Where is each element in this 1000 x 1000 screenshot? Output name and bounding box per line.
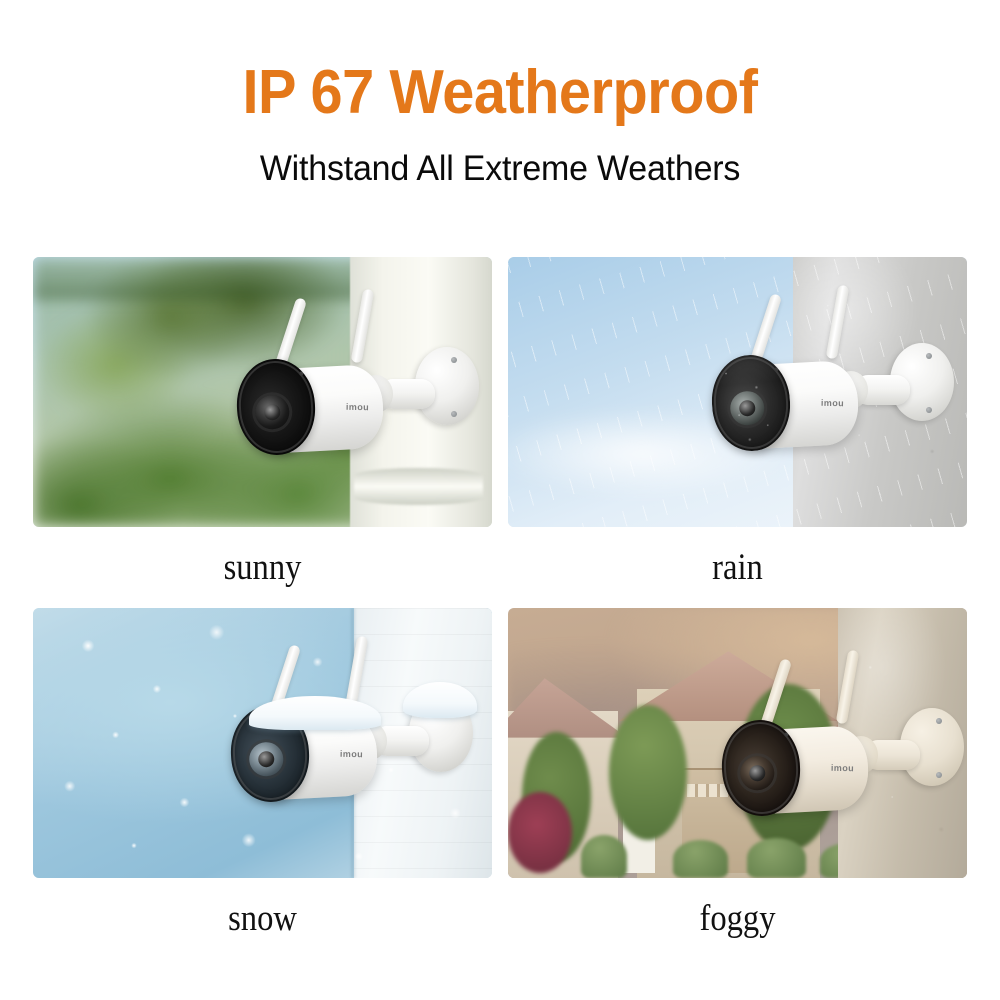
brand-logo: imou: [821, 398, 844, 408]
caption-foggy: foggy: [536, 878, 940, 937]
lens-core: [264, 404, 281, 421]
hedge: [581, 835, 627, 878]
weather-panel-snow: imou snow: [33, 608, 492, 937]
security-camera-device: imou: [704, 319, 954, 504]
weather-panel-grid: imou sunny: [33, 257, 967, 917]
mount-screw-top: [926, 353, 932, 359]
page-title: IP 67 Weatherproof: [35, 0, 965, 125]
snow-accumulation-body: [249, 696, 381, 730]
photo-rain: imou: [508, 257, 967, 527]
mount-screw-bottom: [451, 411, 457, 417]
security-camera-device: imou: [223, 670, 473, 855]
snow-accumulation-mount: [403, 682, 477, 718]
caption-snow: snow: [61, 878, 465, 937]
caption-rain: rain: [536, 527, 940, 586]
lens-core: [749, 765, 766, 782]
photo-foggy: imou: [508, 608, 967, 878]
mount-screw-top: [451, 357, 457, 363]
photo-snow: imou: [33, 608, 492, 878]
mount-screw-bottom: [926, 407, 932, 413]
photo-sunny: imou: [33, 257, 492, 527]
weather-panel-rain: imou rain: [508, 257, 967, 586]
security-camera-device: imou: [714, 684, 964, 869]
header: IP 67 Weatherproof Withstand All Extreme…: [0, 0, 1000, 189]
mount-screw-bottom: [936, 772, 942, 778]
page-subtitle: Withstand All Extreme Weathers: [15, 125, 985, 189]
weather-panel-sunny: imou sunny: [33, 257, 492, 586]
brand-logo: imou: [340, 749, 363, 759]
caption-sunny: sunny: [61, 527, 465, 586]
flowering-bush: [508, 792, 572, 873]
brand-logo: imou: [346, 402, 369, 412]
lens-core: [258, 751, 275, 768]
brand-logo: imou: [831, 763, 854, 773]
security-camera-device: imou: [229, 323, 479, 508]
mount-screw-top: [936, 718, 942, 724]
weather-panel-foggy: imou foggy: [508, 608, 967, 937]
tree: [609, 705, 687, 840]
